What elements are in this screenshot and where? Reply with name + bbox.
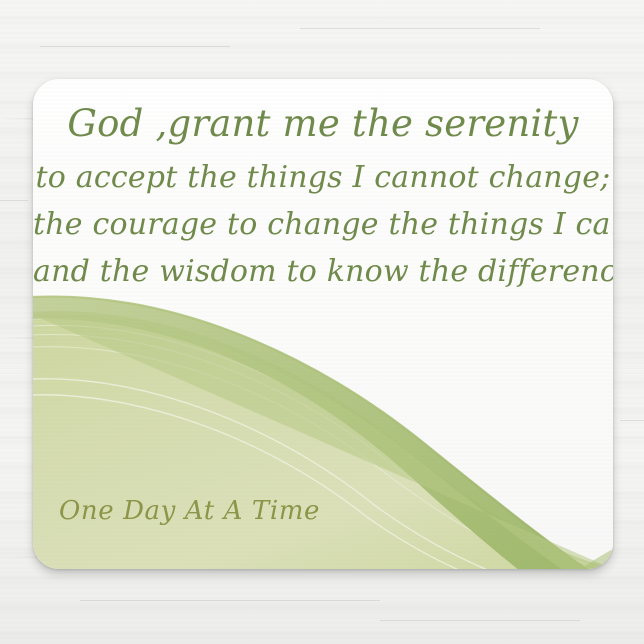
wood-grain-streak [40,46,230,47]
tagline: One Day At A Time [59,495,320,527]
mousepad: God ,grant me the serenity to accept the… [33,79,613,569]
quote-line-4: and the wisdom to know the difference. [33,253,613,291]
wood-grain-streak [80,600,380,601]
quote-line-3: the courage to change the things I can; [33,206,613,244]
wood-grain-streak [300,28,540,29]
quote-line-1: God ,grant me the serenity [33,102,613,146]
quote-line-2: to accept the things I cannot change; [33,159,613,197]
scene: God ,grant me the serenity to accept the… [0,0,644,644]
wood-grain-streak [380,620,580,621]
wood-grain-streak [620,420,644,421]
wood-grain-streak [0,200,28,201]
